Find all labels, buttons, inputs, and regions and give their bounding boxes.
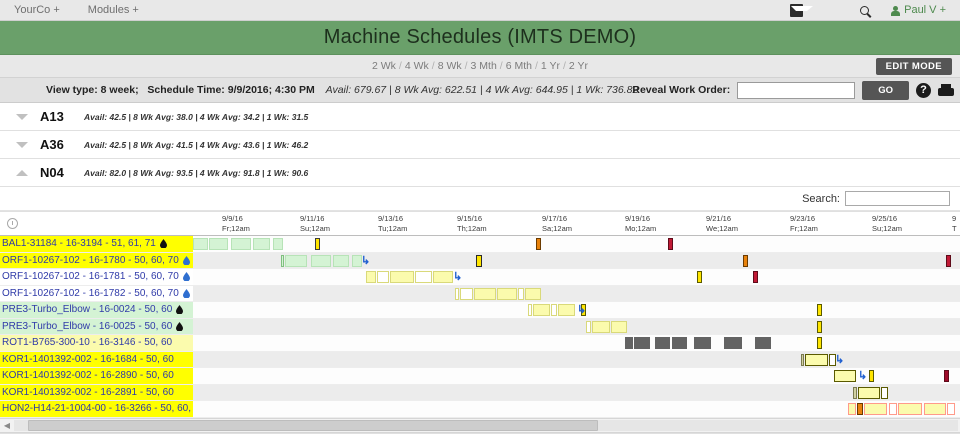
range-separator: /: [396, 60, 405, 72]
time-tick: 9/17/16Sa;12am: [542, 214, 572, 234]
gantt-row[interactable]: ROT1-B765-300-10 - 16-3146 - 50, 60: [0, 335, 960, 352]
gantt-row-label[interactable]: ROT1-B765-300-10 - 16-3146 - 50, 60: [0, 335, 193, 351]
gantt-bar-segment[interactable]: [366, 271, 376, 283]
gantt-bar-segment[interactable]: [858, 387, 880, 399]
coolant-drop-icon: [176, 305, 183, 314]
gantt-bar-segment[interactable]: [946, 255, 951, 267]
range-separator: /: [462, 60, 471, 72]
gantt-row[interactable]: BAL1-31184 - 16-3194 - 51, 61, 71: [0, 236, 960, 253]
continuation-arrow-icon: ↳: [361, 255, 371, 267]
time-tick-date: 9/21/16: [706, 214, 738, 224]
chevron-down-icon[interactable]: [16, 142, 28, 148]
gantt-bar-segment[interactable]: [390, 271, 414, 283]
gantt-row-label-text: KOR1-1401392-002 - 16-2890 - 50, 60: [2, 370, 174, 381]
gantt-row-label-text: ORF1-10267-102 - 16-1780 - 50, 60, 70: [2, 255, 179, 266]
gantt-row-label-text: BAL1-31184 - 16-3194 - 51, 61, 71: [2, 238, 156, 249]
gantt-bar-segment[interactable]: [755, 337, 771, 349]
gantt-row-label-text: PRE3-Turbo_Elbow - 16-0024 - 50, 60: [2, 304, 172, 315]
search-icon[interactable]: [860, 6, 869, 15]
gantt-bar-segment[interactable]: [625, 337, 633, 349]
user-name-label: Paul V +: [904, 4, 946, 16]
time-tick-date: 9/17/16: [542, 214, 572, 224]
gantt-bar-segment[interactable]: [817, 337, 822, 349]
search-row: Search:: [0, 187, 960, 211]
gantt-row-label-text: KOR1-1401392-002 - 16-2891 - 50, 60: [2, 387, 174, 398]
scroll-left-arrow[interactable]: ◀: [0, 421, 14, 430]
gantt-bar-segment[interactable]: [889, 403, 897, 415]
gantt-row[interactable]: PRE3-Turbo_Elbow - 16-0024 - 50, 60↳: [0, 302, 960, 319]
gantt-row-track[interactable]: ↳: [193, 302, 960, 318]
time-tick: 9/9/16Fr;12am: [222, 214, 250, 234]
machine-group-n16[interactable]: N16 Avail: 42.5 | 8 Wk Avg: 0.0 | 4 Wk A…: [0, 433, 960, 442]
page-title: Machine Schedules (IMTS DEMO): [324, 26, 637, 49]
clock-icon: [7, 218, 18, 229]
machine-group-list: A13Avail: 42.5 | 8 Wk Avg: 38.0 | 4 Wk A…: [0, 103, 960, 187]
horizontal-scrollbar[interactable]: ◀: [0, 418, 960, 433]
gantt-bar-segment[interactable]: [655, 337, 670, 349]
gantt-bar-segment[interactable]: [558, 304, 575, 316]
search-label: Search:: [802, 193, 840, 205]
view-type-value: 8 week;: [101, 84, 139, 96]
time-tick-time: T: [952, 224, 957, 234]
schedule-time-label: Schedule Time:: [147, 84, 224, 96]
coolant-drop-icon: [176, 322, 183, 331]
time-tick-time: Th;12am: [457, 224, 487, 234]
range-option-4-wk[interactable]: 4 Wk: [405, 60, 429, 72]
range-separator: /: [497, 60, 506, 72]
time-tick-time: Su;12am: [872, 224, 902, 234]
gantt-bar-segment[interactable]: [668, 238, 673, 250]
gantt-bar-segment[interactable]: [377, 271, 389, 283]
machine-group-n04[interactable]: N04Avail: 82.0 | 8 Wk Avg: 93.5 | 4 Wk A…: [0, 159, 960, 187]
time-tick-date: 9/13/16: [378, 214, 407, 224]
gantt-row-label[interactable]: KOR1-1401392-002 - 16-1684 - 50, 60: [0, 352, 193, 368]
range-selector-bar: 2 Wk/4 Wk/8 Wk/3 Mth/6 Mth/1 Yr/2 Yr EDI…: [0, 55, 960, 78]
range-option-6-mth[interactable]: 6 Mth: [506, 60, 532, 72]
search-input[interactable]: [845, 191, 950, 206]
gantt-bar-segment[interactable]: [273, 238, 283, 250]
gantt-bar-segment[interactable]: [697, 271, 702, 283]
continuation-arrow-icon: ↳: [577, 304, 587, 316]
range-separator: /: [429, 60, 438, 72]
time-tick: 9/23/16Fr;12am: [790, 214, 818, 234]
time-tick-date: 9: [952, 214, 957, 224]
gantt-row-label[interactable]: PRE3-Turbo_Elbow - 16-0024 - 50, 60: [0, 302, 193, 318]
gantt-bar-segment[interactable]: [898, 403, 922, 415]
gantt-row-label[interactable]: HON2-H14-21-1004-00 - 16-3266 - 50, 60, …: [0, 401, 193, 417]
time-tick-date: 9/11/16: [300, 214, 330, 224]
gantt-bar-segment[interactable]: [285, 255, 307, 267]
gantt-bar-segment[interactable]: [415, 271, 432, 283]
gantt-row-label[interactable]: BAL1-31184 - 16-3194 - 51, 61, 71: [0, 236, 193, 252]
scroll-thumb[interactable]: [28, 420, 598, 431]
gantt-row[interactable]: ORF1-10267-102 - 16-1781 - 50, 60, 70↳: [0, 269, 960, 286]
time-tick-date: 9/23/16: [790, 214, 818, 224]
gantt-row-track[interactable]: [193, 319, 960, 335]
gantt-bar-segment[interactable]: [333, 255, 349, 267]
gantt-bar-segment[interactable]: [193, 238, 208, 250]
gantt-row-label[interactable]: PRE3-Turbo_Elbow - 16-0025 - 50, 60: [0, 319, 193, 335]
gantt-bar-segment[interactable]: [455, 288, 459, 300]
gantt-row-track[interactable]: ↳: [193, 368, 960, 384]
gantt-bar-segment[interactable]: [586, 321, 591, 333]
gantt-row-track[interactable]: [193, 335, 960, 351]
top-nav-icon-group: Paul V +: [790, 4, 960, 17]
gantt-bar-segment[interactable]: [947, 403, 955, 415]
gantt-row[interactable]: KOR1-1401392-002 - 16-2891 - 50, 60: [0, 385, 960, 402]
gantt-row-track[interactable]: [193, 401, 960, 417]
time-tick-time: Fr;12am: [790, 224, 818, 234]
time-tick-time: We;12am: [706, 224, 738, 234]
coolant-drop-icon: [183, 289, 190, 298]
gantt-bar-segment[interactable]: [881, 387, 888, 399]
range-option-1-yr[interactable]: 1 Yr: [541, 60, 560, 72]
schedule-time-value: 9/9/2016; 4:30 PM: [228, 84, 315, 96]
gantt-bar-segment[interactable]: [853, 387, 857, 399]
gantt-bar-segment[interactable]: [857, 403, 863, 415]
gantt-row-label[interactable]: ORF1-10267-102 - 16-1780 - 50, 60, 70: [0, 253, 193, 269]
reveal-work-order-label: Reveal Work Order:: [632, 84, 730, 96]
range-separator: /: [532, 60, 541, 72]
chevron-up-icon[interactable]: [16, 170, 28, 176]
reveal-work-order-group: Reveal Work Order: GO ?: [632, 81, 954, 100]
chevron-down-icon[interactable]: [16, 114, 28, 120]
edit-mode-button[interactable]: EDIT MODE: [876, 58, 952, 75]
continuation-arrow-icon: ↳: [858, 370, 868, 382]
gantt-row-label[interactable]: KOR1-1401392-002 - 16-2891 - 50, 60: [0, 385, 193, 401]
gantt-bar-segment[interactable]: [672, 337, 687, 349]
reveal-work-order-input[interactable]: [737, 82, 855, 99]
machine-group-a13[interactable]: A13Avail: 42.5 | 8 Wk Avg: 38.0 | 4 Wk A…: [0, 103, 960, 131]
pencil-icon[interactable]: [825, 4, 838, 17]
gantt-bar-segment[interactable]: [474, 288, 496, 300]
gantt-row[interactable]: HON2-H14-21-1004-00 - 16-3266 - 50, 60, …: [0, 401, 960, 418]
gantt-bar-segment[interactable]: [817, 321, 822, 333]
gantt-bar-segment[interactable]: [253, 238, 270, 250]
nav-item-modules[interactable]: Modules +: [74, 4, 153, 16]
gantt-bar-segment[interactable]: [209, 238, 228, 250]
top-navigation-bar: YourCo + Modules + Paul V +: [0, 0, 960, 21]
continuation-arrow-icon: ↳: [453, 271, 463, 283]
gantt-bar-segment[interactable]: [924, 403, 946, 415]
gantt-row-label-text: HON2-H14-21-1004-00 - 16-3266 - 50, 60, …: [2, 403, 193, 414]
gantt-bar-segment[interactable]: [805, 354, 828, 366]
gantt-row-track[interactable]: [193, 286, 960, 302]
gantt-row-label-text: PRE3-Turbo_Elbow - 16-0025 - 50, 60: [2, 321, 172, 332]
machine-group-name: A36: [40, 137, 84, 152]
gantt-bar-segment[interactable]: [528, 304, 532, 316]
print-icon[interactable]: [938, 84, 954, 97]
time-tick-date: 9/19/16: [625, 214, 656, 224]
time-tick: 9/25/16Su;12am: [872, 214, 902, 234]
gantt-bar-segment[interactable]: [743, 255, 748, 267]
time-tick: 9/21/16We;12am: [706, 214, 738, 234]
gantt-row[interactable]: ORF1-10267-102 - 16-1780 - 50, 60, 70↳: [0, 253, 960, 270]
gantt-row-track[interactable]: ↳: [193, 253, 960, 269]
coolant-drop-icon: [183, 272, 190, 281]
page-title-bar: Machine Schedules (IMTS DEMO): [0, 21, 960, 55]
time-tick: 9T: [952, 214, 957, 234]
gantt-bar-segment[interactable]: [281, 255, 284, 267]
person-icon: [891, 6, 900, 15]
gantt-bar-segment[interactable]: [497, 288, 517, 300]
gantt-row-label-text: ORF1-10267-102 - 16-1781 - 50, 60, 70: [2, 271, 179, 282]
gantt-row[interactable]: KOR1-1401392-002 - 16-2890 - 50, 60↳: [0, 368, 960, 385]
help-icon[interactable]: ?: [916, 83, 931, 98]
continuation-arrow-icon: ↳: [835, 354, 845, 366]
schedule-info-text: View type: 8 week; Schedule Time: 9/9/20…: [0, 84, 638, 96]
gantt-bar-segment[interactable]: [476, 255, 482, 267]
machine-group-stats: Avail: 42.5 | 8 Wk Avg: 38.0 | 4 Wk Avg:…: [84, 112, 308, 122]
view-type-label: View type:: [46, 84, 98, 96]
gantt-bar-segment[interactable]: [551, 304, 557, 316]
machine-group-stats: Avail: 82.0 | 8 Wk Avg: 93.5 | 4 Wk Avg:…: [84, 168, 308, 178]
gantt-bar-segment[interactable]: [315, 238, 320, 250]
machine-group-stats: Avail: 42.5 | 8 Wk Avg: 41.5 | 4 Wk Avg:…: [84, 140, 308, 150]
gantt-bar-segment[interactable]: [433, 271, 453, 283]
gantt-bar-segment[interactable]: [724, 337, 742, 349]
gantt-bar-segment[interactable]: [801, 354, 804, 366]
schedule-availability-stats: Avail: 679.67 | 8 Wk Avg: 622.51 | 4 Wk …: [318, 84, 639, 96]
range-separator: /: [560, 60, 569, 72]
machine-group-name: N04: [40, 165, 84, 180]
machine-group-name: A13: [40, 109, 84, 124]
time-tick-time: Mo;12am: [625, 224, 656, 234]
gantt-bar-segment[interactable]: [694, 337, 711, 349]
time-tick-date: 9/9/16: [222, 214, 250, 224]
time-tick: 9/11/16Su;12am: [300, 214, 330, 234]
time-tick: 9/15/16Th;12am: [457, 214, 487, 234]
gantt-row-track[interactable]: ↳: [193, 269, 960, 285]
gantt-bar-segment[interactable]: [460, 288, 473, 300]
gantt-bar-segment[interactable]: [536, 238, 541, 250]
mail-icon[interactable]: [790, 4, 803, 17]
time-tick-time: Sa;12am: [542, 224, 572, 234]
gantt-row-label[interactable]: ORF1-10267-102 - 16-1781 - 50, 60, 70: [0, 269, 193, 285]
time-tick: 9/13/16Tu;12am: [378, 214, 407, 234]
gantt-row[interactable]: PRE3-Turbo_Elbow - 16-0025 - 50, 60: [0, 319, 960, 336]
gantt-bar-segment[interactable]: [533, 304, 550, 316]
range-option-2-wk[interactable]: 2 Wk: [372, 60, 396, 72]
scroll-trough[interactable]: [14, 420, 958, 431]
go-button[interactable]: GO: [862, 81, 909, 100]
gantt-row[interactable]: KOR1-1401392-002 - 16-1684 - 50, 60↳: [0, 352, 960, 369]
gantt-bar-segment[interactable]: [634, 337, 650, 349]
gantt-bar-segment[interactable]: [231, 238, 251, 250]
gantt-time-header: 9/9/16Fr;12am9/11/16Su;12am9/13/16Tu;12a…: [0, 211, 960, 236]
time-tick-date: 9/15/16: [457, 214, 487, 224]
time-tick-time: Tu;12am: [378, 224, 407, 234]
gantt-row-list: BAL1-31184 - 16-3194 - 51, 61, 71ORF1-10…: [0, 236, 960, 418]
gantt-bar-segment[interactable]: [864, 403, 887, 415]
gantt-row-label-text: KOR1-1401392-002 - 16-1684 - 50, 60: [2, 354, 174, 365]
schedule-info-bar: View type: 8 week; Schedule Time: 9/9/20…: [0, 78, 960, 103]
user-menu[interactable]: Paul V +: [891, 4, 946, 16]
gantt-row-label[interactable]: KOR1-1401392-002 - 16-2890 - 50, 60: [0, 368, 193, 384]
gantt-bar-segment[interactable]: [848, 403, 856, 415]
time-tick-time: Fr;12am: [222, 224, 250, 234]
top-nav-links: YourCo + Modules +: [0, 4, 153, 16]
range-option-3-mth[interactable]: 3 Mth: [471, 60, 497, 72]
gantt-row-label[interactable]: ORF1-10267-102 - 16-1782 - 50, 60, 70: [0, 286, 193, 302]
gantt-bar-segment[interactable]: [817, 304, 822, 316]
gantt-bar-segment[interactable]: [753, 271, 758, 283]
machine-group-a36[interactable]: A36Avail: 42.5 | 8 Wk Avg: 41.5 | 4 Wk A…: [0, 131, 960, 159]
range-option-8-wk[interactable]: 8 Wk: [438, 60, 462, 72]
time-tick-time: Su;12am: [300, 224, 330, 234]
coolant-drop-icon: [160, 239, 167, 248]
gantt-row-track[interactable]: ↳: [193, 352, 960, 368]
gantt-bar-segment[interactable]: [869, 370, 874, 382]
gantt-bar-segment[interactable]: [311, 255, 331, 267]
range-options: 2 Wk/4 Wk/8 Wk/3 Mth/6 Mth/1 Yr/2 Yr: [0, 60, 960, 72]
gantt-chart: 9/9/16Fr;12am9/11/16Su;12am9/13/16Tu;12a…: [0, 211, 960, 418]
gantt-row-label-text: ORF1-10267-102 - 16-1782 - 50, 60, 70: [2, 288, 179, 299]
time-tick-date: 9/25/16: [872, 214, 902, 224]
gantt-bar-segment[interactable]: [592, 321, 610, 333]
gantt-row[interactable]: ORF1-10267-102 - 16-1782 - 50, 60, 70: [0, 286, 960, 303]
range-option-2-yr[interactable]: 2 Yr: [569, 60, 588, 72]
gantt-bar-segment[interactable]: [834, 370, 856, 382]
time-tick: 9/19/16Mo;12am: [625, 214, 656, 234]
gantt-row-track[interactable]: [193, 385, 960, 401]
gantt-row-track[interactable]: [193, 236, 960, 252]
gantt-row-label-text: ROT1-B765-300-10 - 16-3146 - 50, 60: [2, 337, 172, 348]
gantt-bar-segment[interactable]: [525, 288, 541, 300]
gantt-bar-segment[interactable]: [944, 370, 949, 382]
gantt-bar-segment[interactable]: [611, 321, 627, 333]
nav-item-yourco[interactable]: YourCo +: [0, 4, 74, 16]
gantt-bar-segment[interactable]: [518, 288, 524, 300]
coolant-drop-icon: [183, 256, 190, 265]
